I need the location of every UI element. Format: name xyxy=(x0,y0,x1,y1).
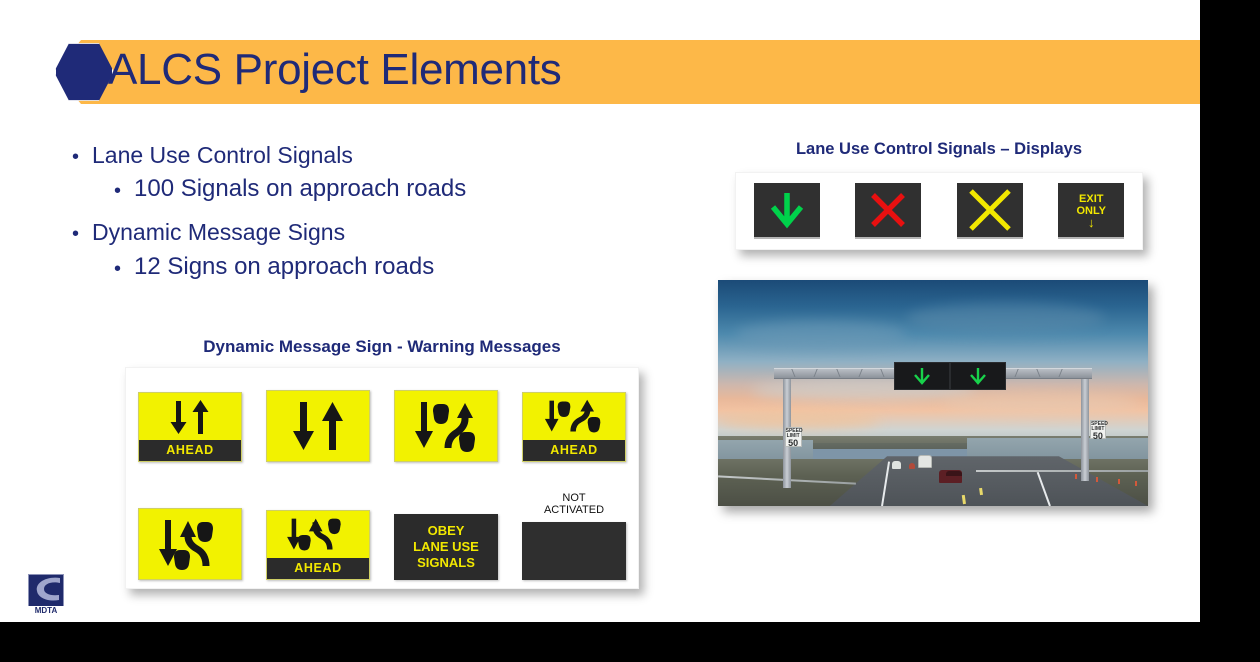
photo-cone xyxy=(1135,481,1137,486)
exit-only-icon: EXIT ONLY ↓ xyxy=(1076,193,1106,228)
dms-sign-obey-lane-use-signals: OBEY LANE USE SIGNALS xyxy=(394,514,498,580)
x-icon xyxy=(868,190,908,230)
dms-cell: AHEAD xyxy=(262,510,374,580)
photo-truck xyxy=(918,455,932,468)
mdta-logo: MDTA xyxy=(28,574,66,616)
dms-sign-down-up-arrows xyxy=(266,390,370,462)
photo-gantry-signal xyxy=(950,362,1006,389)
photo-cone xyxy=(1118,479,1120,484)
bullet-text: Dynamic Message Signs xyxy=(92,219,345,246)
dms-sign-down-arrow-shift-right xyxy=(394,390,498,462)
dms-sign-down-arrow-shift-left-ahead: AHEAD xyxy=(266,510,370,580)
down-arrow-shift-left-icon xyxy=(282,515,354,555)
bullet-dot-icon: • xyxy=(72,219,92,244)
dms-cell: OBEY LANE USE SIGNALS xyxy=(390,514,502,580)
bullet-item: • Dynamic Message Signs xyxy=(72,219,662,246)
lucs-display-panel: EXIT ONLY ↓ xyxy=(735,172,1143,250)
dms-cell xyxy=(134,508,246,580)
down-arrow-shift-right-icon xyxy=(538,397,610,437)
photo-cloud xyxy=(907,303,1105,335)
down-arrow-shift-left-icon xyxy=(154,516,226,572)
dms-cell: NOT ACTIVATED xyxy=(518,492,630,580)
speed-limit-value: 50 xyxy=(1091,432,1105,441)
down-arrow-icon xyxy=(912,366,932,386)
photo-guardrail xyxy=(976,470,1148,472)
dms-sign-not-activated xyxy=(522,522,626,580)
lucs-tile-exit-only: EXIT ONLY ↓ xyxy=(1058,183,1124,239)
dms-banner: AHEAD xyxy=(523,440,625,461)
photo-cloud xyxy=(735,321,907,348)
down-arrow-icon: ↓ xyxy=(1076,217,1106,228)
x-icon xyxy=(968,188,1012,232)
photo-gantry-signal xyxy=(894,362,950,389)
dms-row: AHEAD xyxy=(126,382,638,462)
dms-graphic xyxy=(395,391,497,461)
photo-cone xyxy=(1096,477,1098,482)
down-arrow-icon xyxy=(968,366,988,386)
mdta-swoosh-icon xyxy=(32,575,64,603)
dms-text-line: OBEY xyxy=(428,523,465,539)
down-arrow-up-arrow-large-icon xyxy=(285,398,351,454)
bullet-dot-icon: • xyxy=(114,253,134,279)
dms-sign-down-up-arrows-ahead: AHEAD xyxy=(138,392,242,462)
dms-graphic xyxy=(523,393,625,440)
lucs-panel-heading: Lane Use Control Signals – Displays xyxy=(735,140,1143,159)
photo-car-window xyxy=(946,471,962,476)
dms-not-activated-caption: NOT ACTIVATED xyxy=(544,492,604,516)
photo-vehicle xyxy=(909,463,915,469)
speed-limit-value: 50 xyxy=(786,439,801,448)
dms-graphic xyxy=(267,511,369,558)
dms-text-line: SIGNALS xyxy=(417,555,475,571)
highway-gantry-photo: SPEED LIMIT 50 SPEED LIMIT 50 xyxy=(718,280,1148,506)
bullet-item: • 12 Signs on approach roads xyxy=(114,253,662,281)
dms-graphic xyxy=(139,509,241,579)
dms-graphic xyxy=(139,393,241,440)
bullet-dot-icon: • xyxy=(72,142,92,167)
bullet-dot-icon: • xyxy=(114,175,134,201)
page-title: ALCS Project Elements xyxy=(108,39,561,103)
bullet-list: • Lane Use Control Signals • 100 Signals… xyxy=(62,136,662,281)
photo-vehicle xyxy=(892,461,901,469)
bullet-text: 100 Signals on approach roads xyxy=(134,175,466,203)
exit-only-line1: EXIT xyxy=(1079,193,1103,205)
down-arrow-up-arrow-icon xyxy=(161,397,219,437)
dms-sign-down-arrow-shift-right-ahead: AHEAD xyxy=(522,392,626,462)
dms-banner: AHEAD xyxy=(139,440,241,461)
dms-cell: AHEAD xyxy=(134,392,246,462)
dms-row: AHEAD OBEY LANE USE SIGNALS NOT ACTIVATE… xyxy=(126,484,638,580)
bullet-text: 12 Signs on approach roads xyxy=(134,253,434,281)
photo-gantry-leg-right xyxy=(1081,373,1089,481)
dms-panel-heading: Dynamic Message Sign - Warning Messages xyxy=(125,337,639,357)
speed-limit-sign-left: SPEED LIMIT 50 xyxy=(785,427,802,447)
dms-text-line: LANE USE xyxy=(413,539,479,555)
speed-limit-sign-right: SPEED LIMIT 50 xyxy=(1090,420,1106,439)
slide-canvas: ALCS Project Elements • Lane Use Control… xyxy=(0,0,1200,622)
bullet-item: • 100 Signals on approach roads xyxy=(114,175,662,203)
dms-banner: AHEAD xyxy=(267,558,369,579)
dms-graphic xyxy=(267,391,369,461)
lucs-tile-yellow-x xyxy=(957,183,1023,239)
dms-cell xyxy=(390,390,502,462)
bullet-item: • Lane Use Control Signals xyxy=(72,142,662,169)
dms-sign-down-arrow-shift-left xyxy=(138,508,242,580)
photo-cone xyxy=(1075,474,1077,479)
down-arrow-icon xyxy=(767,190,807,230)
dms-cell xyxy=(262,390,374,462)
dms-cell: AHEAD xyxy=(518,392,630,462)
dms-warning-messages-panel: AHEAD xyxy=(125,367,639,589)
bullet-text: Lane Use Control Signals xyxy=(92,142,353,169)
lucs-tile-red-x xyxy=(855,183,921,239)
down-arrow-shift-right-icon xyxy=(410,398,482,454)
mdta-logo-text: MDTA xyxy=(28,606,64,615)
lucs-tile-green-arrow xyxy=(754,183,820,239)
